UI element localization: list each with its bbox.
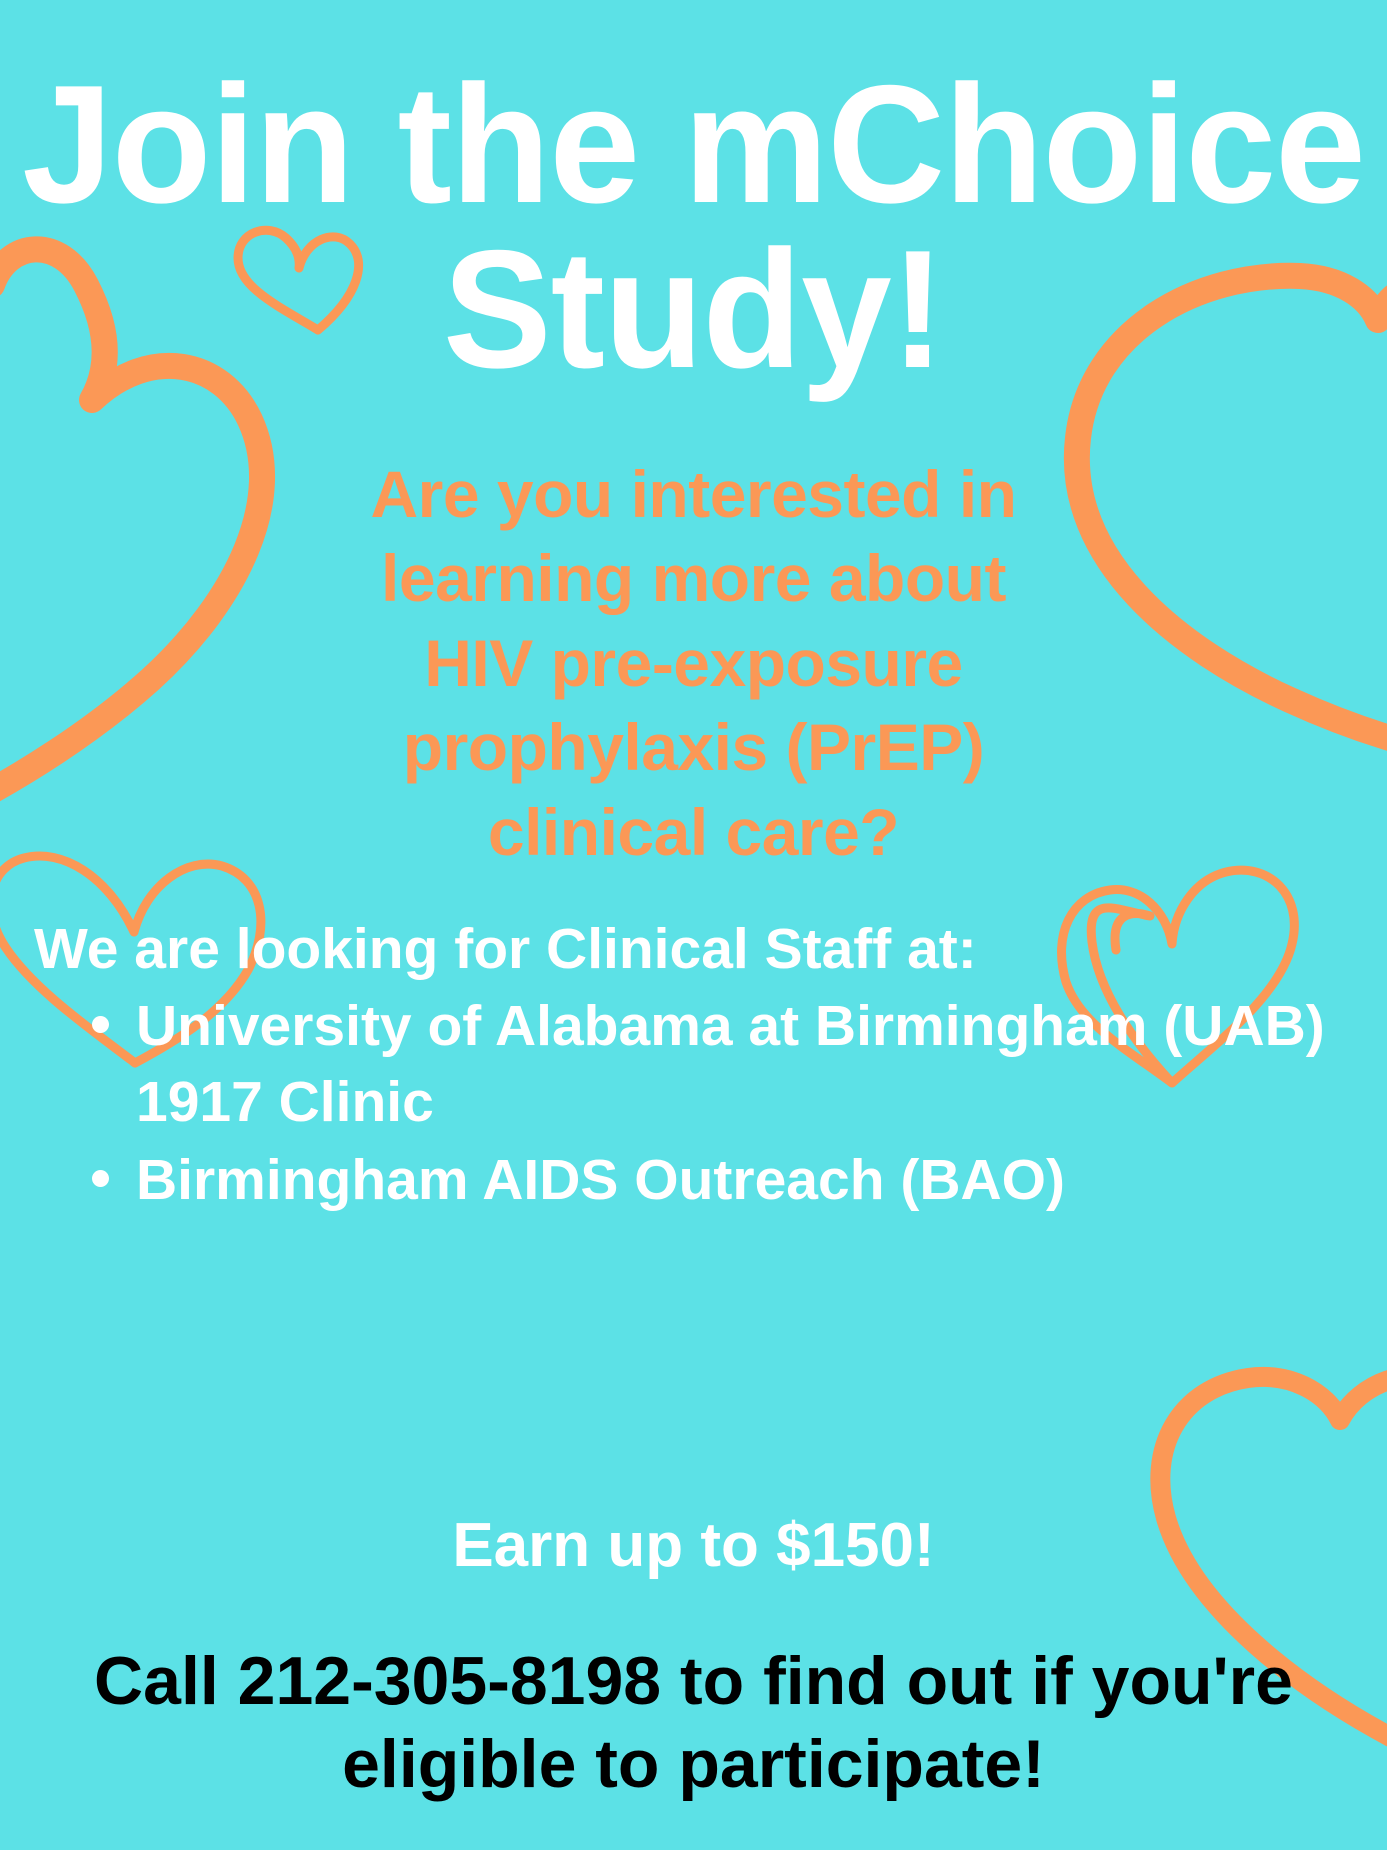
- recruiting-heading: We are looking for Clinical Staff at:: [0, 916, 1387, 983]
- bullet-icon: [92, 1016, 109, 1033]
- site-label: University of Alabama at Birmingham (UAB…: [136, 994, 1325, 1134]
- list-item: University of Alabama at Birmingham (UAB…: [86, 989, 1347, 1141]
- question-block: Are you interested in learning more abou…: [0, 452, 1387, 874]
- question-line-3: HIV pre-exposure: [0, 621, 1387, 705]
- flyer-content: Join the mChoice Study! Are you interest…: [0, 0, 1387, 1850]
- title-line-1: Join the mChoice: [21, 62, 1366, 227]
- bullet-icon: [92, 1170, 109, 1187]
- page-title: Join the mChoice Study!: [21, 62, 1366, 391]
- title-line-2: Study!: [21, 227, 1366, 392]
- incentive-text: Earn up to $150!: [0, 1512, 1387, 1580]
- question-line-4: prophylaxis (PrEP): [0, 705, 1387, 789]
- call-to-action-block: Call 212-305-8198 to find out if you're …: [0, 1640, 1387, 1806]
- site-label: Birmingham AIDS Outreach (BAO): [136, 1148, 1065, 1212]
- question-line-5: clinical care?: [0, 790, 1387, 874]
- cta-line-1: Call 212-305-8198 to find out if you're: [0, 1640, 1387, 1723]
- list-item: Birmingham AIDS Outreach (BAO): [86, 1143, 1347, 1219]
- cta-line-2: eligible to participate!: [0, 1723, 1387, 1806]
- recruiting-block: We are looking for Clinical Staff at: Un…: [0, 916, 1387, 1221]
- recruiting-site-list: University of Alabama at Birmingham (UAB…: [0, 989, 1387, 1218]
- flyer-poster: Join the mChoice Study! Are you interest…: [0, 0, 1387, 1850]
- question-line-1: Are you interested in: [0, 452, 1387, 536]
- question-line-2: learning more about: [0, 536, 1387, 620]
